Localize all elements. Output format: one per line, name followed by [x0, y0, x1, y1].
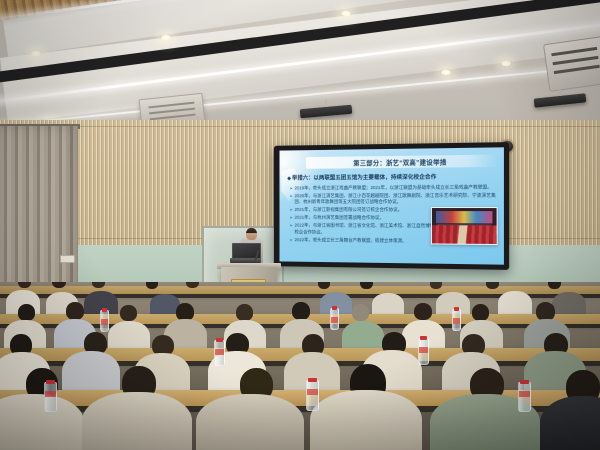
- slide-title-text: 第三部分：浙艺“双高”建设举措: [353, 157, 446, 167]
- projection-screen[interactable]: 第三部分：浙艺“双高”建设举措 ◆举措六：以两联盟五团五馆为主要载体，持续深化校…: [279, 147, 503, 264]
- list-item: 2019年，牵头成立浙江戏曲产教联盟；2021年，以浙江联盟为基础牵头成立长三角…: [290, 184, 499, 191]
- speaker-head: [246, 228, 257, 240]
- water-bottle: [214, 340, 225, 366]
- audience-head: [236, 304, 253, 321]
- water-bottle: [330, 308, 339, 330]
- water-bottle-front: [44, 382, 57, 412]
- water-bottle-front: [306, 380, 319, 411]
- projection-screen-frame: 第三部分：浙艺“双高”建设举措 ◆举措六：以两联盟五团五馆为主要载体，持续深化校…: [274, 142, 509, 270]
- audience-person-front: [0, 394, 84, 450]
- diamond-bullet-icon: ◆: [287, 176, 291, 181]
- water-bottle-front: [518, 382, 531, 412]
- water-bottle: [452, 309, 461, 331]
- slide-heading: ◆举措六：以两联盟五团五馆为主要载体，持续深化校企合作: [287, 172, 498, 182]
- audience-head: [120, 305, 137, 321]
- audience-head: [292, 302, 310, 320]
- recessed-downlight-4: [500, 60, 512, 67]
- audience-head: [18, 304, 35, 321]
- lecture-hall-photo: 第三部分：浙艺“双高”建设举措 ◆举措六：以两联盟五团五馆为主要载体，持续深化校…: [0, 0, 600, 450]
- audience-person-front: [310, 390, 422, 450]
- recessed-downlight-5: [440, 69, 452, 76]
- audience-person-front: [82, 392, 192, 450]
- ceiling-projector-right: [534, 93, 587, 107]
- recessed-downlight-2: [160, 34, 172, 41]
- audience-head: [472, 304, 489, 321]
- list-item: 2020年，与浙江演艺集团、浙江小百花越剧院团、浙江歌舞剧院、浙江音乐艺术研究院…: [290, 193, 499, 206]
- water-bottle: [418, 338, 429, 365]
- audience-head: [414, 303, 432, 320]
- slide-embedded-photo: [431, 207, 498, 245]
- slide-heading-text: 举措六：以两联盟五团五馆为主要载体，持续深化校企合作: [292, 175, 436, 182]
- recessed-downlight-3: [340, 10, 352, 17]
- photo-led-wall: [436, 211, 493, 223]
- audience-area: [0, 282, 600, 450]
- recessed-downlight-1: [30, 50, 42, 57]
- audience-head: [66, 302, 84, 320]
- cassette-ac-vent-right-icon: [543, 36, 600, 92]
- wall-socket-left: [60, 255, 75, 263]
- audience-head: [352, 304, 369, 321]
- audience-person-front: [540, 396, 600, 450]
- audience-person: [62, 351, 120, 395]
- slide-title-bar: 第三部分：浙艺“双高”建设举措: [306, 155, 498, 169]
- ceiling-projector-mid: [300, 105, 353, 118]
- audience-person-front: [196, 394, 304, 450]
- water-bottle: [100, 310, 109, 332]
